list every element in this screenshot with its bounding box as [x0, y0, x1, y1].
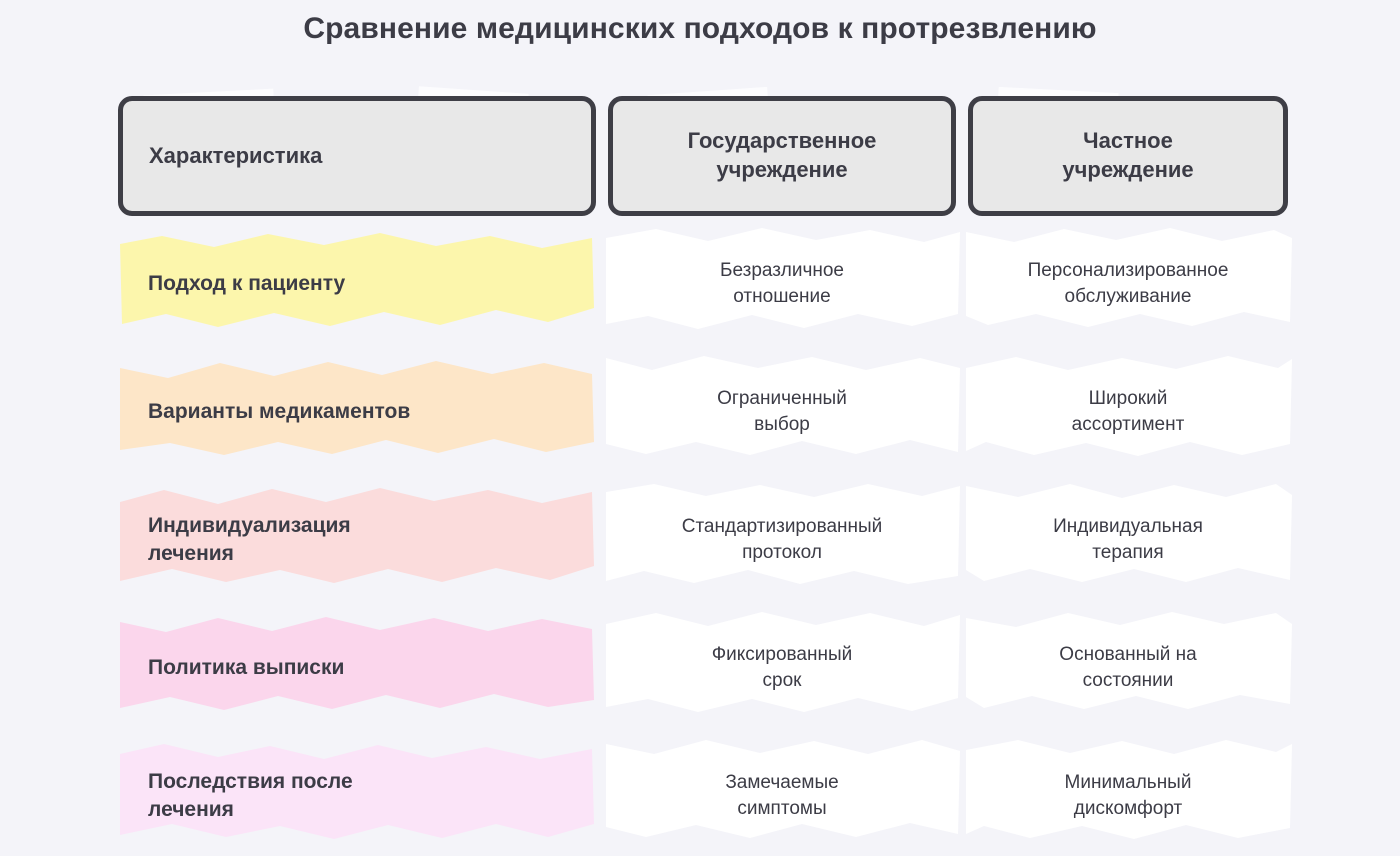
comparison-table-page: Сравнение медицинских подходов к протрез… — [0, 0, 1400, 846]
row-label: Политика выписки — [118, 654, 362, 682]
row-value-public-cell: Фиксированный срок — [608, 608, 956, 728]
row-value-public-cell: Безразличное отношение — [608, 224, 956, 344]
row-label-cell: Политика выписки — [118, 608, 596, 728]
comparison-table: Характеристика Государственное учреждени… — [118, 96, 1288, 856]
row-label-cell: Индивидуализация лечения — [118, 480, 596, 600]
row-value-public: Фиксированный срок — [704, 642, 861, 694]
table-row: Политика выписки Фиксированный срок Осно… — [118, 608, 1288, 728]
row-value-public: Стандартизированный протокол — [674, 514, 891, 566]
row-value-private: Широкий ассортимент — [1064, 386, 1193, 438]
row-value-private-cell: Минимальный дискомфорт — [968, 736, 1288, 856]
row-value-private: Основанный на состоянии — [1051, 642, 1204, 694]
row-value-private-cell: Широкий ассортимент — [968, 352, 1288, 472]
row-value-public-cell: Стандартизированный протокол — [608, 480, 956, 600]
table-row: Варианты медикаментов Ограниченный выбор… — [118, 352, 1288, 472]
header-box-characteristic: Характеристика — [118, 96, 596, 216]
row-value-private: Персонализированное обслуживание — [1020, 258, 1237, 310]
row-value-private: Индивидуальная терапия — [1045, 514, 1211, 566]
table-row: Индивидуализация лечения Стандартизирова… — [118, 480, 1288, 600]
row-value-public: Безразличное отношение — [712, 258, 852, 310]
row-value-public-cell: Ограниченный выбор — [608, 352, 956, 472]
row-label: Последствия после лечения — [118, 768, 371, 823]
table-row: Последствия после лечения Замечаемые сим… — [118, 736, 1288, 856]
row-label: Подход к пациенту — [118, 270, 363, 298]
row-label: Индивидуализация лечения — [118, 512, 369, 567]
header-cell-characteristic: Характеристика — [118, 96, 596, 216]
header-cell-public: Государственное учреждение — [608, 96, 956, 216]
row-value-private-cell: Основанный на состоянии — [968, 608, 1288, 728]
row-value-public-cell: Замечаемые симптомы — [608, 736, 956, 856]
header-box-public: Государственное учреждение — [608, 96, 956, 216]
row-value-private-cell: Персонализированное обслуживание — [968, 224, 1288, 344]
row-value-public: Замечаемые симптомы — [717, 770, 846, 822]
header-label-characteristic: Характеристика — [149, 142, 322, 171]
row-label-cell: Последствия после лечения — [118, 736, 596, 856]
row-label-cell: Варианты медикаментов — [118, 352, 596, 472]
table-header-row: Характеристика Государственное учреждени… — [118, 96, 1288, 216]
table-row: Подход к пациенту Безразличное отношение… — [118, 224, 1288, 344]
row-value-public: Ограниченный выбор — [709, 386, 855, 438]
row-value-private: Минимальный дискомфорт — [1057, 770, 1200, 822]
header-cell-private: Частное учреждение — [968, 96, 1288, 216]
header-label-public: Государственное учреждение — [688, 127, 877, 184]
row-label: Варианты медикаментов — [118, 398, 428, 426]
header-box-private: Частное учреждение — [968, 96, 1288, 216]
page-title: Сравнение медицинских подходов к протрез… — [0, 12, 1400, 46]
row-label-cell: Подход к пациенту — [118, 224, 596, 344]
row-value-private-cell: Индивидуальная терапия — [968, 480, 1288, 600]
header-label-private: Частное учреждение — [1062, 127, 1193, 184]
